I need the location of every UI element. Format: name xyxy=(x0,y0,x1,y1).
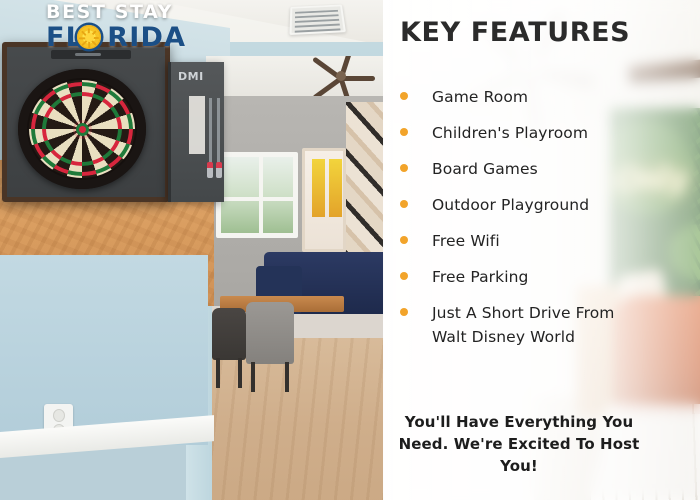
feature-label: Free Parking xyxy=(432,266,529,290)
bullet-icon xyxy=(400,164,408,172)
feature-label: Just A Short Drive From Walt Disney Worl… xyxy=(432,302,622,349)
poster-canvas: DMI Only KEY xyxy=(0,0,700,500)
bullet-icon xyxy=(400,308,408,316)
cabinet-brand-label: DMI xyxy=(178,70,204,83)
wood-floor xyxy=(206,338,384,500)
feature-label: Free Wifi xyxy=(432,230,500,254)
dart-icon xyxy=(216,162,222,178)
dartboard-bullseye xyxy=(76,123,89,136)
footer-message: You'll Have Everything You Need. We're E… xyxy=(397,412,641,478)
bullet-icon xyxy=(400,272,408,280)
bullet-icon xyxy=(400,128,408,136)
bullet-icon xyxy=(400,236,408,244)
doorway-to-living-room xyxy=(206,56,384,500)
dartboard-cabinet xyxy=(2,42,170,202)
brand-logo: BEST STAY FLORIDA xyxy=(46,3,196,51)
list-item: Just A Short Drive From Walt Disney Worl… xyxy=(395,302,695,349)
dart-holder-door: DMI xyxy=(168,62,224,202)
dart-icon xyxy=(207,162,213,178)
dartboard-icon xyxy=(18,69,146,189)
ceiling-ac-vent-icon xyxy=(289,5,346,35)
list-item: Free Wifi xyxy=(395,230,695,254)
list-item: Game Room xyxy=(395,86,695,110)
list-item: Outdoor Playground xyxy=(395,194,695,218)
bullet-icon xyxy=(400,200,408,208)
sun-icon xyxy=(77,25,101,49)
photo-left-game-room: DMI xyxy=(0,0,384,500)
list-item: Children's Playroom xyxy=(395,122,695,146)
window xyxy=(216,152,298,238)
scoreboard xyxy=(189,96,205,154)
logo-line-top: BEST STAY xyxy=(46,3,196,22)
ceiling-fan-icon xyxy=(306,68,376,84)
page-title: KEY FEATURES xyxy=(400,17,630,48)
feature-label: Game Room xyxy=(432,86,528,110)
logo-text-post: RIDA xyxy=(107,22,186,53)
foreground-blue-wall xyxy=(0,255,208,445)
feature-label: Outdoor Playground xyxy=(432,194,589,218)
key-features-panel: KEY FEATURES Game Room Children's Playro… xyxy=(383,0,700,500)
list-item: Free Parking xyxy=(395,266,695,290)
front-door xyxy=(302,148,346,252)
dining-chair xyxy=(212,308,246,360)
list-item: Board Games xyxy=(395,158,695,182)
features-list: Game Room Children's Playroom Board Game… xyxy=(395,86,695,362)
logo-line-bottom: FLORIDA xyxy=(46,24,196,51)
feature-label: Children's Playroom xyxy=(432,122,588,146)
dining-chair xyxy=(246,302,294,364)
feature-label: Board Games xyxy=(432,158,538,182)
bullet-icon xyxy=(400,92,408,100)
